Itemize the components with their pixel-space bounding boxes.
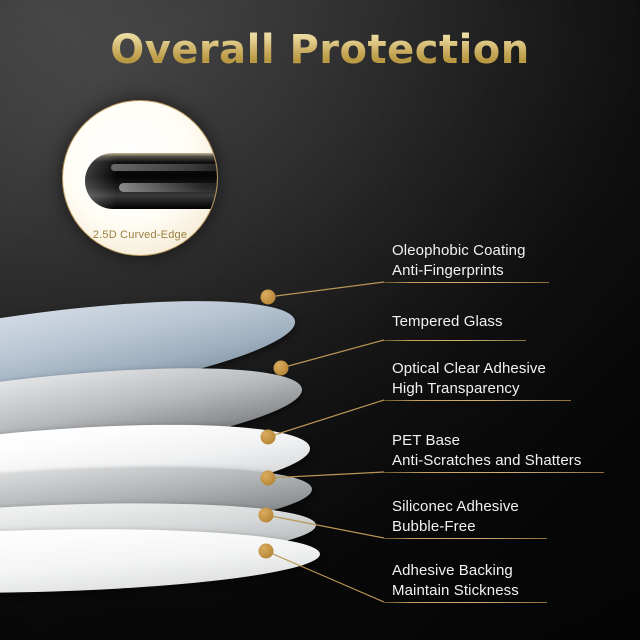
promo-graphic: Overall Protection 2.5D Curved-Edge Oleo… <box>0 0 640 640</box>
phone-highlight-upper <box>111 164 218 171</box>
phone-edge-highlight <box>85 153 131 209</box>
phone-highlight-lower <box>119 183 218 192</box>
curved-edge-phone-icon <box>85 153 218 209</box>
layer-stack <box>0 255 350 605</box>
page-title: Overall Protection <box>0 27 640 73</box>
curved-edge-inset: 2.5D Curved-Edge <box>62 100 218 256</box>
inset-caption: 2.5D Curved-Edge <box>63 229 217 241</box>
